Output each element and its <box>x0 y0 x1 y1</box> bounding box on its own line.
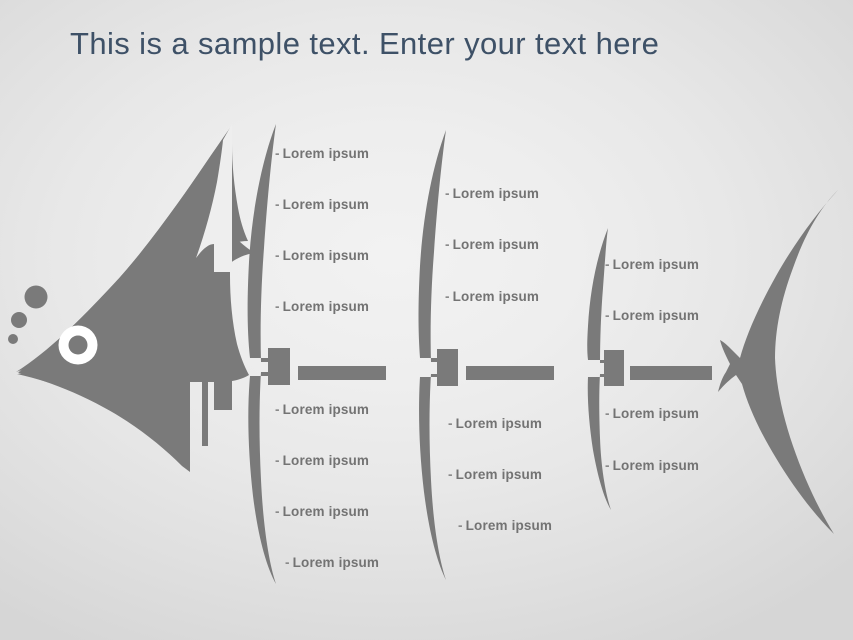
bone-2-label-above-3-text: Lorem ipsum <box>453 289 539 304</box>
bone-1-label-below-1[interactable]: -Lorem ipsum <box>275 402 369 417</box>
bone-1-label-above-1[interactable]: -Lorem ipsum <box>275 146 369 161</box>
bone-2-label-below-1[interactable]: -Lorem ipsum <box>448 416 542 431</box>
bullet-dash: - <box>275 248 280 263</box>
bone-1-label-below-3-text: Lorem ipsum <box>283 504 369 519</box>
bullet-dash: - <box>445 186 450 201</box>
bone-3-label-below-2[interactable]: -Lorem ipsum <box>605 458 699 473</box>
bone-3-label-above-1[interactable]: -Lorem ipsum <box>605 257 699 272</box>
bone-2-label-above-3[interactable]: -Lorem ipsum <box>445 289 539 304</box>
bone-1-label-above-4[interactable]: -Lorem ipsum <box>275 299 369 314</box>
bone-3-label-below-1-text: Lorem ipsum <box>613 406 699 421</box>
bone-1-label-above-1-text: Lorem ipsum <box>283 146 369 161</box>
slide-canvas: This is a sample text. Enter your text h… <box>0 0 853 640</box>
bone-3-label-below-1[interactable]: -Lorem ipsum <box>605 406 699 421</box>
bone-1-label-below-4[interactable]: -Lorem ipsum <box>285 555 379 570</box>
bone-2-label-below-2-text: Lorem ipsum <box>456 467 542 482</box>
bone-3-label-below-2-text: Lorem ipsum <box>613 458 699 473</box>
bone-1-label-above-2[interactable]: -Lorem ipsum <box>275 197 369 212</box>
bullet-dash: - <box>605 458 610 473</box>
bullet-dash: - <box>458 518 463 533</box>
bone-2-label-above-1-text: Lorem ipsum <box>453 186 539 201</box>
fishbone-diagram-graphic <box>0 0 853 640</box>
bullet-dash: - <box>275 402 280 417</box>
bone-2-label-above-2-text: Lorem ipsum <box>453 237 539 252</box>
bubble-large-icon <box>25 286 48 309</box>
bullet-dash: - <box>445 289 450 304</box>
bubble-small-icon <box>8 334 18 344</box>
bone-2-label-above-2[interactable]: -Lorem ipsum <box>445 237 539 252</box>
fish-collar-connector <box>196 358 230 382</box>
spine-segment-3 <box>630 366 712 380</box>
fish-head-body <box>18 128 249 472</box>
bullet-dash: - <box>605 406 610 421</box>
bullet-dash: - <box>605 257 610 272</box>
bullet-dash: - <box>275 197 280 212</box>
bullet-dash: - <box>275 504 280 519</box>
spine-segment-2 <box>466 366 554 380</box>
bullet-dash: - <box>605 308 610 323</box>
bone-2-label-below-3-text: Lorem ipsum <box>466 518 552 533</box>
bone-1-label-below-2-text: Lorem ipsum <box>283 453 369 468</box>
bone-1-label-below-3[interactable]: -Lorem ipsum <box>275 504 369 519</box>
fish-pupil-icon <box>69 336 88 355</box>
bullet-dash: - <box>448 467 453 482</box>
bone-3-label-above-1-text: Lorem ipsum <box>613 257 699 272</box>
bullet-dash: - <box>275 453 280 468</box>
bullet-dash: - <box>445 237 450 252</box>
bone-1-label-below-1-text: Lorem ipsum <box>283 402 369 417</box>
bone-1-label-above-2-text: Lorem ipsum <box>283 197 369 212</box>
bone-1-label-above-3-text: Lorem ipsum <box>283 248 369 263</box>
fish-tail-fin <box>718 190 838 534</box>
bubble-medium-icon <box>11 312 27 328</box>
bone-3-label-above-2[interactable]: -Lorem ipsum <box>605 308 699 323</box>
bullet-dash: - <box>285 555 290 570</box>
spine-segment-1 <box>298 366 386 380</box>
bone-2-label-below-2[interactable]: -Lorem ipsum <box>448 467 542 482</box>
bone-1-label-below-2[interactable]: -Lorem ipsum <box>275 453 369 468</box>
bone-1-label-above-3[interactable]: -Lorem ipsum <box>275 248 369 263</box>
bone-1-label-below-4-text: Lorem ipsum <box>293 555 379 570</box>
bone-1-label-above-4-text: Lorem ipsum <box>283 299 369 314</box>
bullet-dash: - <box>448 416 453 431</box>
bone-2-label-below-1-text: Lorem ipsum <box>456 416 542 431</box>
bone-2-label-below-3[interactable]: -Lorem ipsum <box>458 518 552 533</box>
bullet-dash: - <box>275 146 280 161</box>
bone-3-label-above-2-text: Lorem ipsum <box>613 308 699 323</box>
bone-2-label-above-1[interactable]: -Lorem ipsum <box>445 186 539 201</box>
bullet-dash: - <box>275 299 280 314</box>
